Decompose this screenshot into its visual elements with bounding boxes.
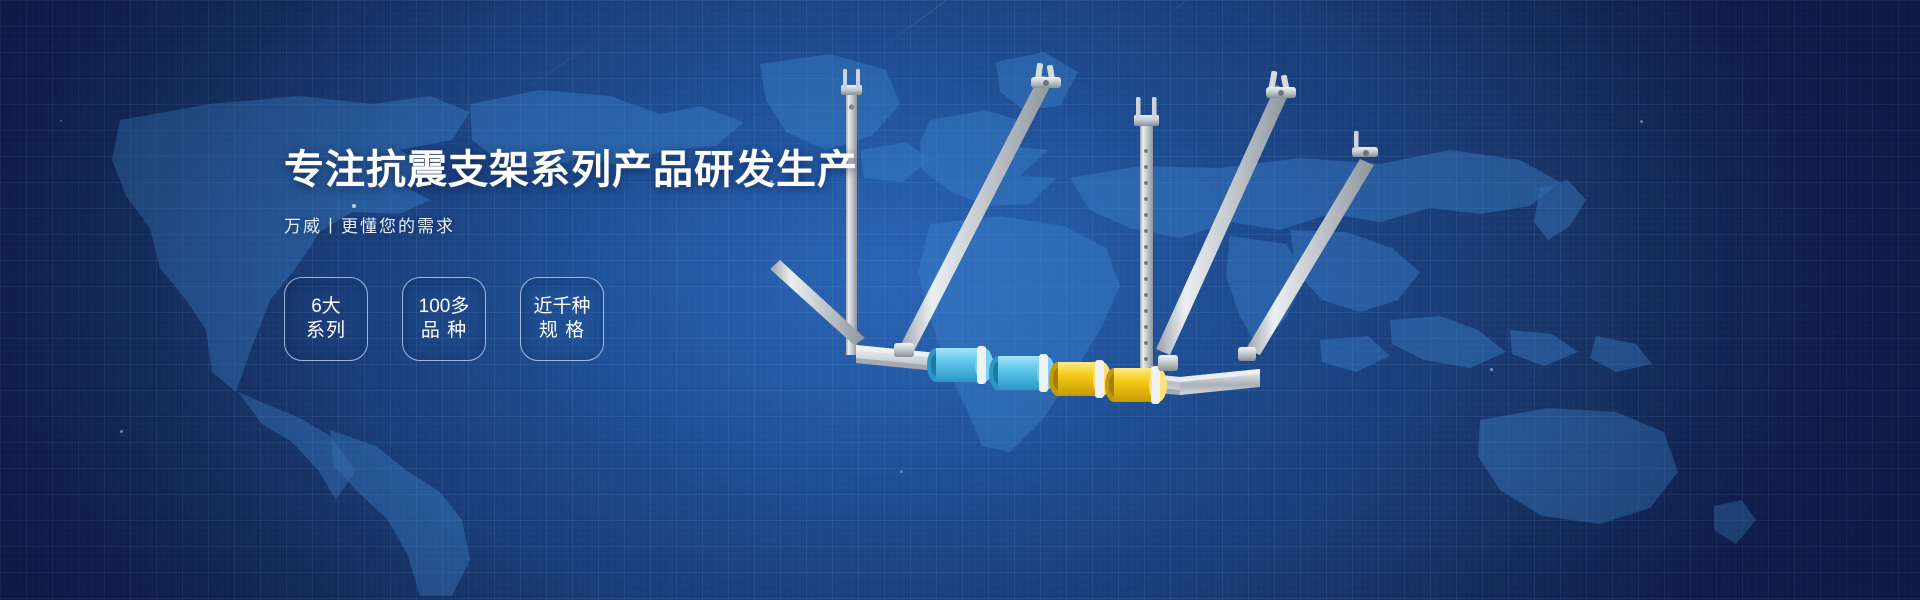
diagonal-brace [1246,131,1378,355]
vertical-post-perforated [1134,97,1159,380]
badge-varieties-line1: 100多 [419,295,470,319]
badge-varieties[interactable]: 100多 品 种 [402,277,486,361]
hero-banner: 专注抗震支架系列产品研发生产 万威丨更懂您的需求 6大 系列 100多 品 种 … [0,0,1920,600]
star-icon [1490,368,1493,371]
badge-series-line1: 6大 [311,295,341,319]
banner-copy: 专注抗震支架系列产品研发生产 万威丨更懂您的需求 6大 系列 100多 品 种 … [284,150,924,361]
badge-varieties-line2: 品 种 [421,319,467,343]
badge-series-line2: 系列 [306,319,346,343]
star-icon [120,430,123,433]
pipe-yellow [1105,366,1167,404]
badge-series[interactable]: 6大 系列 [284,277,368,361]
badge-specifications[interactable]: 近千种 规 格 [520,277,604,361]
star-icon [60,120,62,122]
banner-subline: 万威丨更懂您的需求 [284,190,924,235]
badge-specifications-line2: 规 格 [539,319,585,343]
pipe-blue [989,354,1055,392]
badge-specifications-line1: 近千种 [533,295,590,319]
pipe-yellow [1049,360,1111,398]
star-icon [900,470,903,473]
banner-headline: 专注抗震支架系列产品研发生产 [284,150,924,190]
badge-list: 6大 系列 100多 品 种 近千种 规 格 [284,235,924,361]
pipe-blue [927,346,993,384]
star-icon [1640,120,1643,123]
